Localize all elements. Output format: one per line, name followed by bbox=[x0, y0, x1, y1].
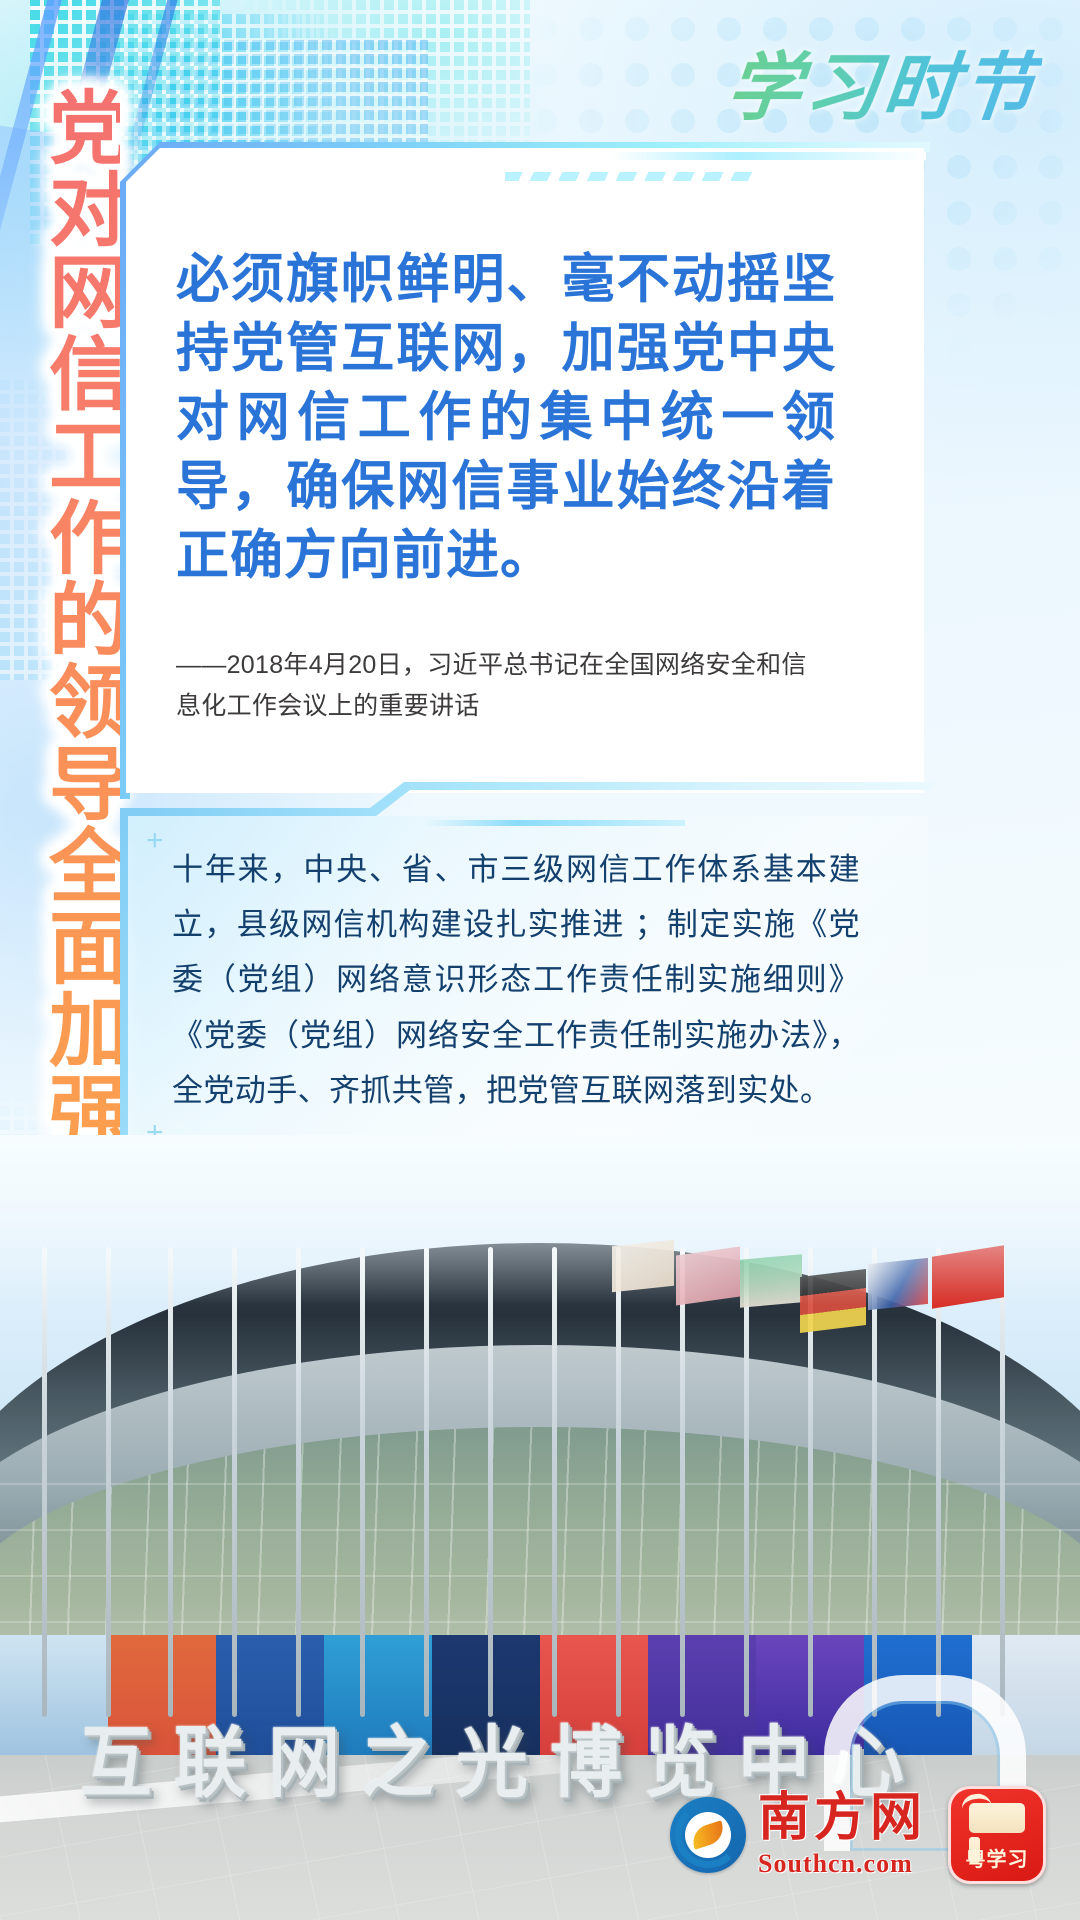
yuexuexi-app-icon[interactable]: 粤学习 bbox=[948, 1786, 1046, 1884]
photo-top-fade bbox=[0, 1135, 1080, 1305]
quote-attribution: ——2018年4月20日，习近平总书记在全国网络安全和信息化工作会议上的重要讲话 bbox=[176, 645, 826, 726]
quote-card-dash-accent bbox=[505, 172, 755, 181]
southcn-logo[interactable]: 南方网 Southcn.com bbox=[670, 1793, 926, 1877]
footer-logo-row: 南方网 Southcn.com 粤学习 bbox=[670, 1786, 1046, 1884]
brand-logo: 学习时节 bbox=[722, 28, 1045, 135]
body-panel-accent-bar bbox=[425, 820, 685, 826]
southcn-s-mark-icon bbox=[670, 1797, 746, 1873]
quote-text: 必须旗帜鲜明、毫不动摇坚持党管互联网，加强党中央对网信工作的集中统一领导，确保网… bbox=[176, 246, 836, 590]
southcn-logo-text: 南方网 Southcn.com bbox=[758, 1793, 926, 1877]
poster-root: 学习时节 党对网信工作的领导全面加强 必须旗帜鲜明、毫不动摇坚持党管互联网，加强… bbox=[0, 0, 1080, 1920]
yuexuexi-label: 粤学习 bbox=[951, 1843, 1043, 1872]
quote-card-highlight-bar bbox=[610, 152, 926, 160]
book-icon bbox=[969, 1803, 1025, 1833]
vertical-headline: 党对网信工作的领导全面加强 bbox=[26, 86, 120, 1152]
southcn-chinese-name: 南方网 bbox=[758, 1793, 926, 1845]
footer: 南方网 Southcn.com 粤学习 bbox=[0, 1770, 1080, 1920]
body-paragraph: 十年来，中央、省、市三级网信工作体系基本建立，县级网信机构建设扎实推进 ；制定实… bbox=[172, 842, 860, 1118]
plus-marker-icon-top: + bbox=[146, 826, 164, 856]
southcn-domain: Southcn.com bbox=[758, 1851, 926, 1877]
